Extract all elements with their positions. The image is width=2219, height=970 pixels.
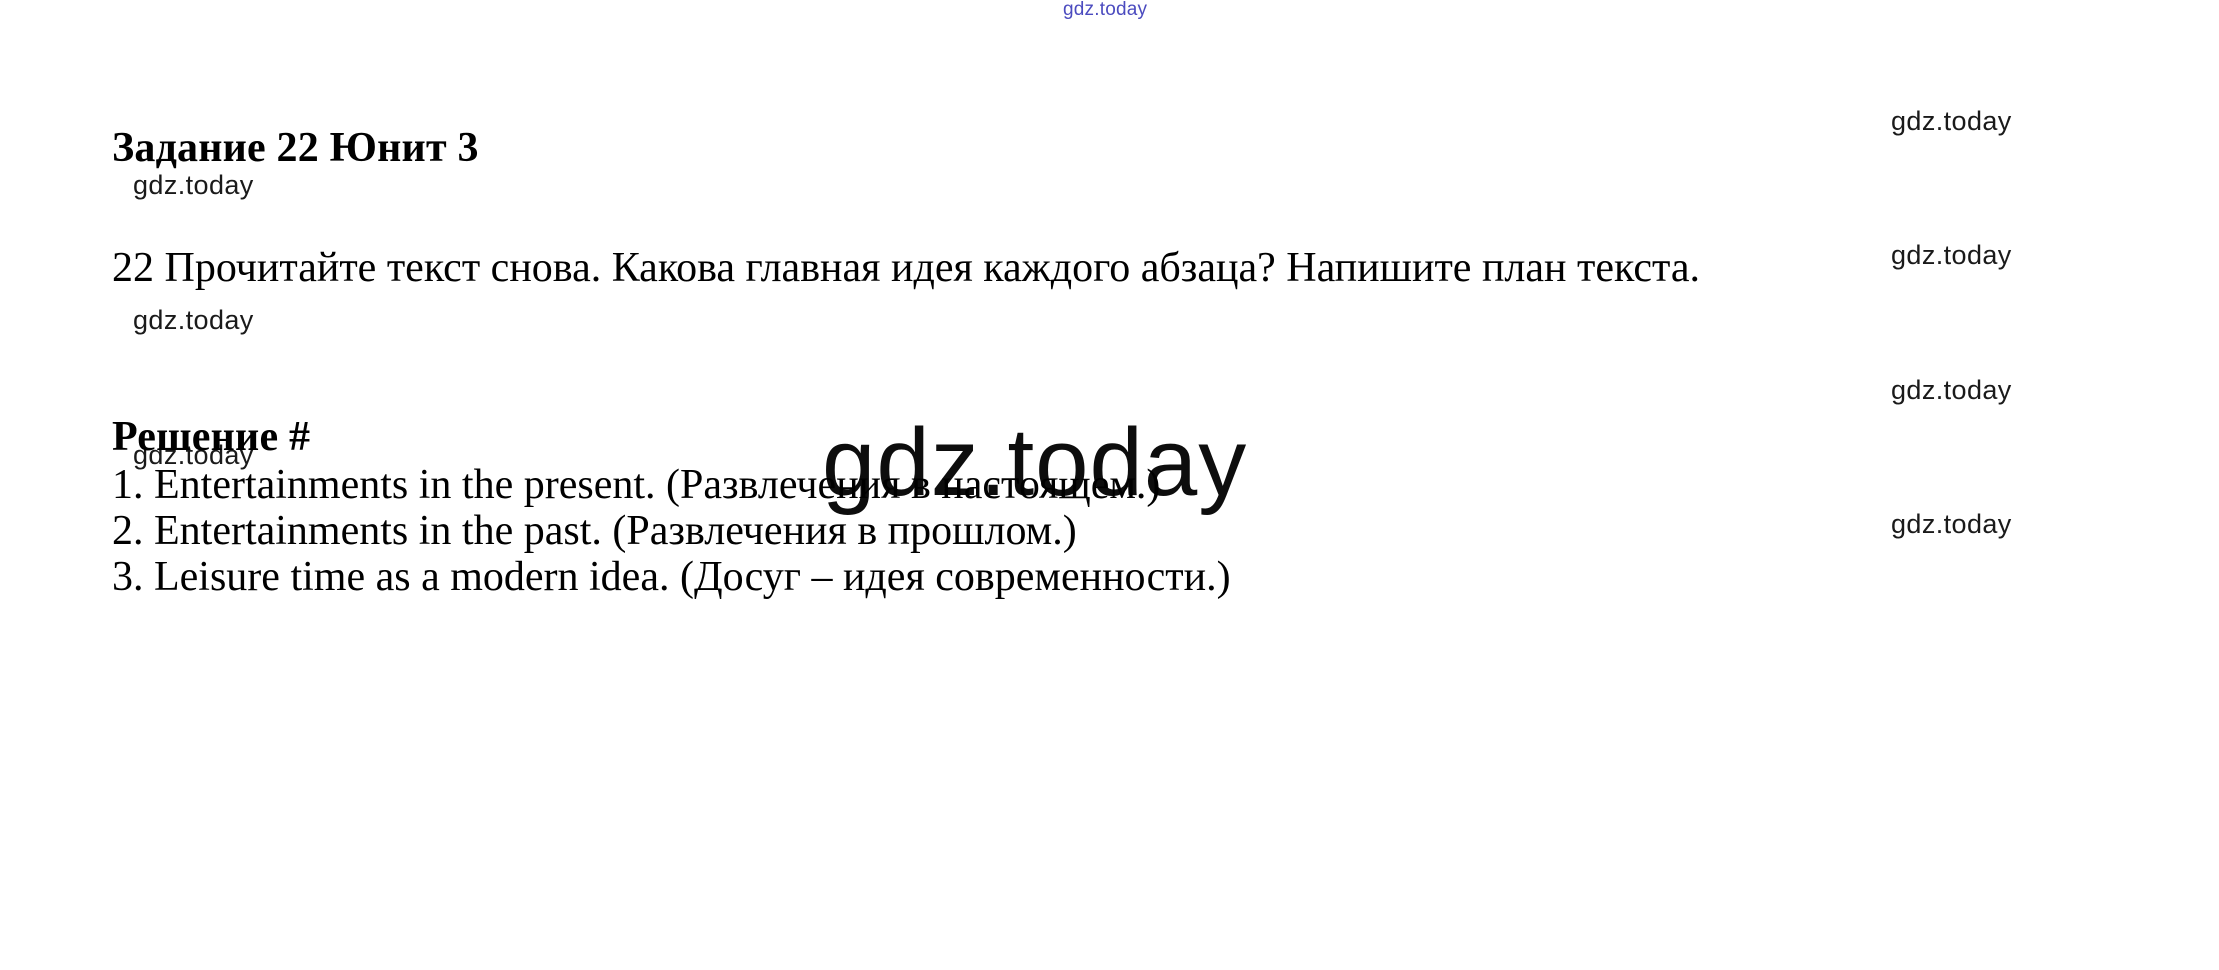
watermark-left-2: gdz.today	[133, 305, 254, 336]
watermark-top: gdz.today	[1063, 0, 1147, 21]
page-canvas: gdz.today gdz.today gdz.today gdz.today …	[0, 0, 2219, 970]
answer-item-2: 2. Entertainments in the past. (Развлече…	[112, 508, 1077, 554]
watermark-right-4: gdz.today	[1891, 509, 2012, 540]
page-title: Задание 22 Юнит 3	[112, 124, 479, 172]
task-statement: 22 Прочитайте текст снова. Какова главна…	[112, 240, 2002, 297]
watermark-right-1: gdz.today	[1891, 106, 2012, 137]
watermark-left-1: gdz.today	[133, 170, 254, 201]
answer-item-1: 1. Entertainments in the present. (Развл…	[112, 462, 1160, 508]
watermark-right-3: gdz.today	[1891, 375, 2012, 406]
answer-item-3: 3. Leisure time as a modern idea. (Досуг…	[112, 554, 1231, 600]
solution-heading: Решение #	[112, 413, 310, 461]
